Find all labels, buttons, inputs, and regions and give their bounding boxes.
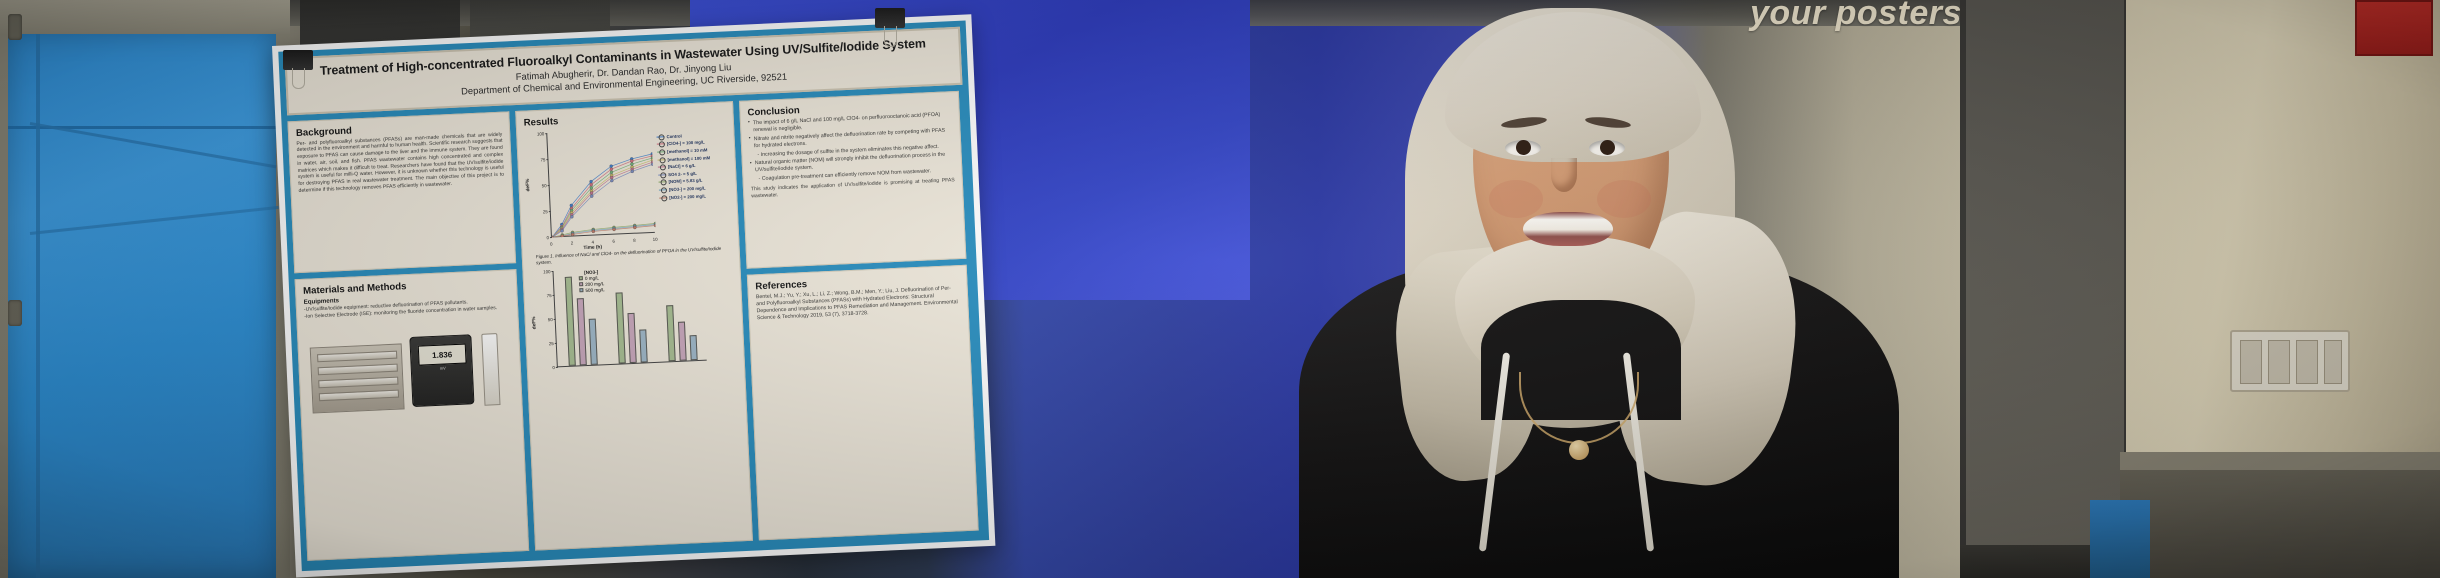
chart2-legend-swatch-icon <box>579 282 583 286</box>
chart1-legend-marker-icon <box>659 197 667 198</box>
conclusion-list: The impact of 6 g/L NaCl and 100 mg/L Cl… <box>748 111 955 184</box>
chart1-y-tick: 25 <box>528 209 548 215</box>
rack-slot <box>318 364 398 376</box>
chart1-legend-marker-icon <box>659 189 667 190</box>
chart2-bar <box>677 322 686 361</box>
chart2-legend-label: 0 mg/L <box>585 275 599 281</box>
poster-column-left: Background Per- and polyfluoroalkyl subs… <box>287 111 529 561</box>
chart1-y-tick: 50 <box>527 183 547 189</box>
door-hinge-top <box>8 14 22 40</box>
chart1-legend-entry: [methanol] = 10 mM <box>657 147 710 154</box>
poster-column-right: Conclusion The impact of 6 g/L NaCl and … <box>739 91 979 541</box>
chart1-legend-label: [methanol] = 100 mM <box>667 155 710 162</box>
chart1-legend-entry: [NO3-] = 200 mg/L <box>659 185 712 192</box>
door-mullion <box>36 30 40 578</box>
chart1-legend-marker-icon <box>656 136 664 137</box>
chart1-legend-entry: [NO2-] = 200 mg/L <box>659 193 712 200</box>
chart2-y-tick: 75 <box>532 293 552 299</box>
chart1-y-tick: 0 <box>529 235 549 241</box>
chart2-y-tick: 50 <box>533 317 553 323</box>
chart1-x-tick: 10 <box>653 236 658 241</box>
fire-alarm-icon <box>2355 0 2433 56</box>
rack-slot <box>317 351 397 363</box>
chart1-series-svg <box>547 129 656 238</box>
meter-reading: 1.836 <box>418 344 467 366</box>
figure-2-bar-chart: deF% 0255075100 [NO3-]0 mg/L200 mg/L500 … <box>530 259 737 388</box>
nose <box>1551 158 1577 192</box>
poster-columns: Background Per- and polyfluoroalkyl subs… <box>287 90 982 560</box>
chart1-x-tick: 6 <box>612 238 615 243</box>
chart1-legend: Control[ClO4-] = 100 mg/L[methanol] = 10… <box>656 132 712 203</box>
photo-scene: your posters 00 Treatment of High-concen… <box>0 0 2440 578</box>
presenter-person <box>1305 0 1945 578</box>
research-poster: Treatment of High-concentrated Fluoroalk… <box>272 14 995 577</box>
chart1-legend-label: [NO2-] = 200 mg/L <box>669 193 706 200</box>
ise-meter-image: 1.836 mV <box>409 334 474 407</box>
chart1-x-tick: 8 <box>633 237 636 242</box>
chart2-legend: [NO3-]0 mg/L200 mg/L500 mg/L <box>578 269 604 294</box>
chart1-legend-marker-icon <box>657 144 665 145</box>
chart2-legend-swatch-icon <box>579 288 583 292</box>
chart2-bar <box>564 277 575 366</box>
poster-board: Treatment of High-concentrated Fluoroalk… <box>278 21 989 572</box>
cheek-right <box>1597 180 1651 218</box>
poster-column-middle: Results deF% 0255075100 0246810 Time (h)… <box>515 101 753 550</box>
chart1-legend-entry: [NOM] = 5.83 g/L <box>658 178 711 185</box>
chart1-legend-entry: [ClO4-] = 100 mg/L <box>657 140 710 147</box>
chart1-x-tick: 0 <box>550 241 553 246</box>
chart1-legend-label: [NO3-] = 200 mg/L <box>669 185 706 192</box>
counter-top <box>2120 452 2440 470</box>
chart1-y-tick: 100 <box>524 131 544 137</box>
chart2-y-tick: 100 <box>530 269 550 275</box>
meter-unit: mV <box>419 365 467 372</box>
panel-references: References Bentel, M.J.; Yu, Y.; Xu, L.;… <box>747 264 979 540</box>
chart2-bar <box>615 292 625 363</box>
background-body: Per- and polyfluoroalkyl substances (PFA… <box>296 131 504 194</box>
chart1-plot-area <box>546 129 655 238</box>
light-switch-plate[interactable] <box>2230 330 2350 392</box>
rack-slot <box>318 377 398 389</box>
poster-clip-right <box>875 8 905 28</box>
chart1-legend-label: [methanol] = 10 mM <box>667 147 707 154</box>
rack-slot <box>319 390 399 402</box>
chart2-y-tick: 0 <box>535 365 555 371</box>
equipment-photo: 1.836 mV <box>305 315 515 416</box>
whiteboard-frame <box>1960 0 2130 545</box>
chart1-legend-label: [NaCl] = 6 g/L <box>668 163 696 169</box>
chart1-x-label: Time (h) <box>583 245 602 251</box>
chart1-x-tick: 2 <box>571 240 574 245</box>
chart1-legend-marker-icon <box>658 166 666 167</box>
smiling-mouth <box>1523 212 1613 246</box>
panel-results: Results deF% 0255075100 0246810 Time (h)… <box>515 101 753 550</box>
chart1-legend-label: SO4 2- = 5 g/L <box>668 171 697 177</box>
chart2-bar <box>576 298 586 365</box>
panel-conclusion: Conclusion The impact of 6 g/L NaCl and … <box>739 91 966 269</box>
chart1-y-tick: 75 <box>525 157 545 163</box>
chart2-y-tick: 25 <box>534 341 554 347</box>
chart1-legend-marker-icon <box>658 159 666 160</box>
chart1-legend-entry: SO4 2- = 5 g/L <box>658 170 711 177</box>
door-frame <box>0 0 290 578</box>
chart1-legend-marker-icon <box>658 174 666 175</box>
chart1-x-tick: 4 <box>591 239 594 244</box>
chart2-legend-label: 500 mg/L <box>585 287 604 293</box>
switch-4[interactable] <box>2324 340 2342 384</box>
electrode-probe-image <box>481 333 500 406</box>
pupil-left <box>1516 140 1531 155</box>
ise-rack-image <box>310 344 405 414</box>
counter-cabinet <box>2120 452 2440 578</box>
chart2-bar <box>666 305 676 361</box>
panel-materials-methods: Materials and Methods Equipments -UV/sul… <box>295 269 530 561</box>
chart1-legend-marker-icon <box>659 182 667 183</box>
chart1-legend-entry: [methanol] = 100 mM <box>657 155 710 162</box>
blue-equipment-box <box>2090 500 2150 578</box>
necklace-pendant <box>1569 440 1589 460</box>
chart1-legend-label: [ClO4-] = 100 mg/L <box>667 140 705 147</box>
figure-1-line-chart: deF% 0255075100 0246810 Time (h) Control… <box>524 121 732 262</box>
chart1-legend-label: [NOM] = 5.83 g/L <box>668 178 702 185</box>
chart1-legend-entry: [NaCl] = 6 g/L <box>658 162 711 169</box>
switch-2[interactable] <box>2268 340 2290 384</box>
cheek-left <box>1489 180 1543 218</box>
door-top-rail <box>0 0 290 34</box>
chart1-legend-entry: Control <box>656 132 709 139</box>
chart2-legend-label: 200 mg/L <box>585 281 604 287</box>
chart2-plot-area <box>553 264 707 367</box>
chart2-bar <box>689 335 697 360</box>
chart1-legend-label: Control <box>666 133 681 139</box>
chart1-legend-marker-icon <box>657 151 665 152</box>
door-hinge-bottom <box>8 300 22 326</box>
chart2-bar <box>639 329 647 362</box>
panel-background: Background Per- and polyfluoroalkyl subs… <box>287 111 516 273</box>
chart2-legend-entry: 500 mg/L <box>579 287 604 293</box>
poster-clip-left <box>283 50 313 70</box>
switch-3[interactable] <box>2296 340 2318 384</box>
chart2-bar <box>588 318 597 364</box>
door-glass-panel <box>8 30 276 578</box>
chart2-legend-swatch-icon <box>579 276 583 280</box>
chart2-bar <box>627 313 636 363</box>
switch-1[interactable] <box>2240 340 2262 384</box>
pupil-right <box>1600 140 1615 155</box>
